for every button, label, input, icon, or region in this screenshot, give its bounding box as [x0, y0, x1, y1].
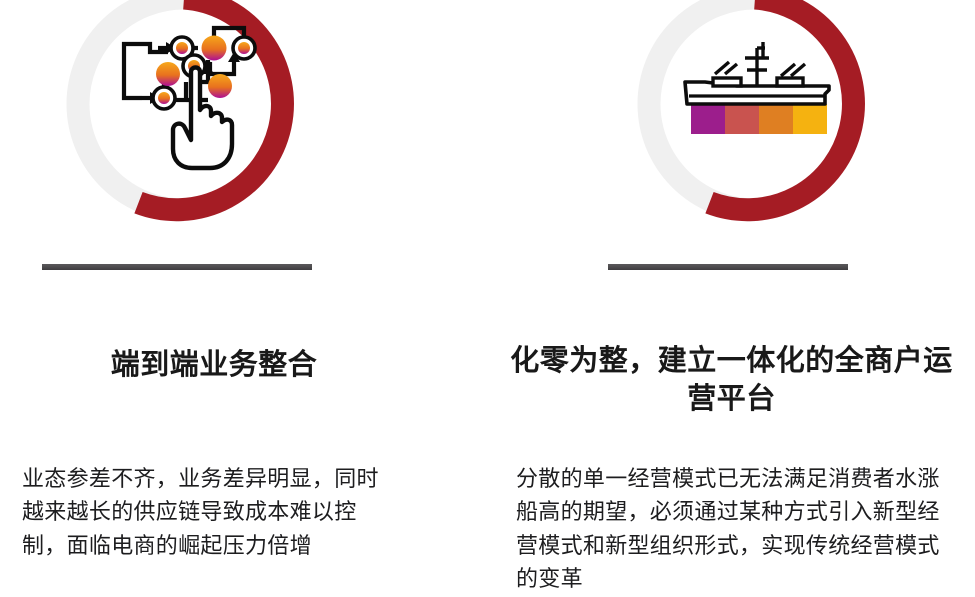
title-divider-left: [42, 264, 312, 270]
panel-end-to-end-integration: 端到端业务整合 业态参差不齐，业务差异明显，同时越来越长的供应链导致成本难以控制…: [0, 0, 488, 597]
panel-unified-merchant-platform: 化零为整，建立一体化的全商户运营平台 分散的单一经营模式已无法满足消费者水涨船高…: [488, 0, 975, 597]
infographic-slide: 端到端业务整合 业态参差不齐，业务差异明显，同时越来越长的供应链导致成本难以控制…: [0, 0, 975, 597]
progress-ring-left: [58, 0, 310, 230]
panel-body-right: 分散的单一经营模式已无法满足消费者水涨船高的期望，必须通过某种方式引入新型经营模…: [516, 462, 956, 596]
ring-progress-arc-left: [139, 0, 283, 210]
icon-ring-right: [629, 0, 881, 230]
icon-ring-left: [58, 0, 310, 230]
title-divider-right: [608, 264, 848, 270]
ring-track-arc-right: [649, 0, 755, 210]
panel-title-left: 端到端业务整合: [0, 346, 488, 384]
ring-track-arc-left: [78, 0, 184, 210]
ring-progress-arc-right: [710, 0, 854, 210]
panel-title-right: 化零为整，建立一体化的全商户运营平台: [506, 342, 957, 419]
progress-ring-right: [629, 0, 881, 230]
panel-body-left: 业态参差不齐，业务差异明显，同时越来越长的供应链导致成本难以控制，面临电商的崛起…: [22, 462, 382, 562]
